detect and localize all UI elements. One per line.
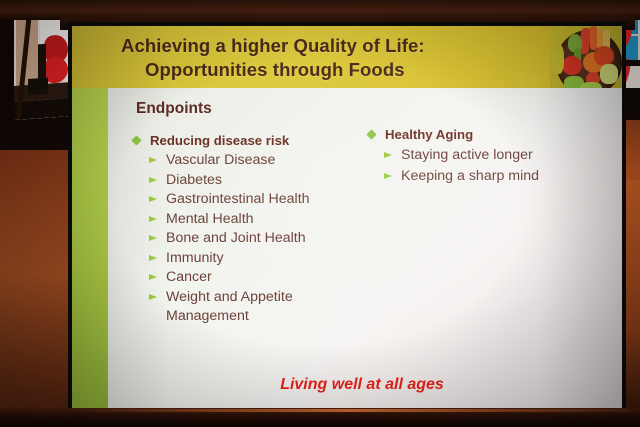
list-item-label: Immunity — [166, 250, 224, 266]
list-item: Mental Health — [132, 210, 367, 230]
column-heading-label: Reducing disease risk — [150, 133, 289, 148]
next-slide-icon[interactable]: ⇨ — [72, 391, 74, 402]
list-item-label: Vascular Disease — [166, 152, 275, 168]
list-item: Weight and Appetite Management — [132, 288, 367, 327]
list-item: Bone and Joint Health — [132, 229, 367, 249]
left-wall-lower — [0, 150, 78, 427]
accent-band — [72, 88, 108, 408]
endpoints-heading: Endpoints — [136, 100, 212, 118]
list-item-label: Gastrointestinal Health — [166, 191, 310, 207]
list-item: Staying active longer — [367, 145, 617, 166]
room-scene: Achieving a higher Quality of Life: Oppo… — [0, 0, 640, 427]
arrow-bullet-icon — [149, 274, 157, 280]
arrow-bullet-icon — [149, 157, 157, 163]
list-item: Keeping a sharp mind — [367, 166, 617, 187]
list-item-label: Keeping a sharp mind — [401, 168, 539, 184]
projection-screen: Achieving a higher Quality of Life: Oppo… — [68, 22, 626, 412]
column-healthy-aging: Healthy Aging Staying active longer Keep… — [367, 126, 617, 187]
arrow-bullet-icon — [149, 235, 157, 241]
slide-title-line1: Achieving a higher Quality of Life: — [121, 33, 425, 59]
column-reducing-disease-risk: Reducing disease risk Vascular Disease D… — [132, 132, 367, 327]
list-item: Diabetes — [132, 171, 367, 191]
list-item-label: Weight and Appetite Management — [166, 289, 293, 325]
slide: Achieving a higher Quality of Life: Oppo… — [72, 26, 622, 408]
list-item-label: Cancer — [166, 269, 212, 285]
column-heading: Reducing disease risk — [132, 132, 367, 149]
arrow-bullet-icon — [384, 152, 392, 158]
arrow-bullet-icon — [149, 216, 157, 222]
slideshow-toolbar[interactable]: ⇦ ╱ ▣ ⇨ — [72, 388, 127, 404]
column-heading-label: Healthy Aging — [385, 127, 473, 142]
slide-footer-tagline: Living well at all ages — [72, 376, 622, 394]
list-item: Gastrointestinal Health — [132, 190, 367, 210]
list-item-label: Diabetes — [166, 172, 222, 188]
diamond-bullet-icon — [132, 136, 142, 146]
list-item: Vascular Disease — [132, 151, 367, 171]
slide-title-band: Achieving a higher Quality of Life: Oppo… — [72, 26, 622, 88]
list-item-label: Bone and Joint Health — [166, 230, 306, 246]
arrow-bullet-icon — [149, 196, 157, 202]
arrow-bullet-icon — [149, 294, 157, 300]
arrow-bullet-icon — [149, 255, 157, 261]
slide-title-line2: Opportunities through Foods — [145, 57, 405, 83]
diamond-bullet-icon — [367, 130, 377, 140]
column-heading: Healthy Aging — [367, 126, 617, 143]
list-item: Cancer — [132, 268, 367, 288]
arrow-bullet-icon — [384, 173, 392, 179]
arrow-bullet-icon — [149, 177, 157, 183]
lower-wall-highlight — [70, 409, 630, 412]
list-item: Immunity — [132, 249, 367, 269]
list-item-label: Mental Health — [166, 211, 254, 227]
list-item-label: Staying active longer — [401, 147, 533, 163]
